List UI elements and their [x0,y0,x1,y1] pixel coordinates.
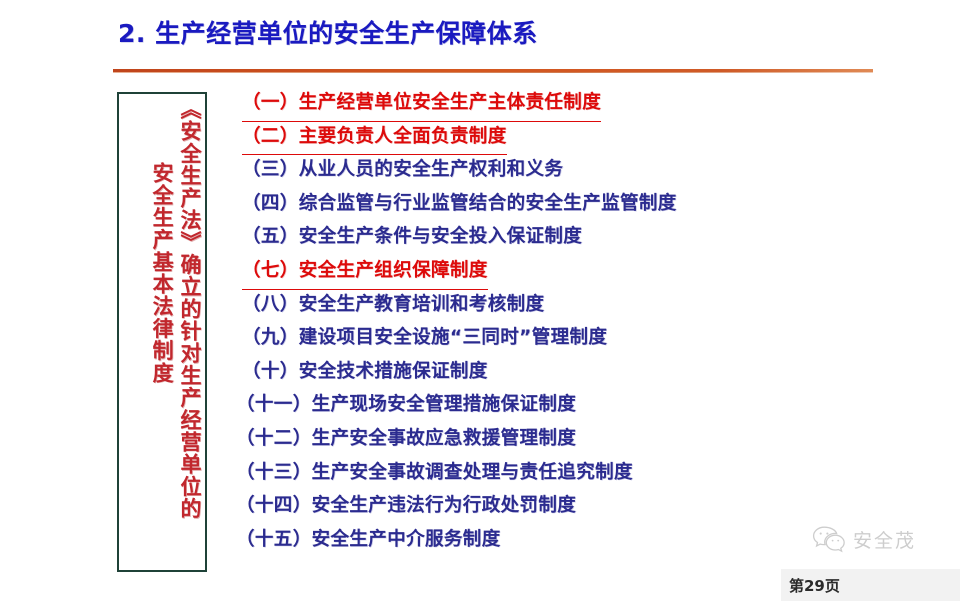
list-item-label: （三）从业人员的安全生产权利和义务 [242,153,563,187]
vertical-text-column-1: 《安全生产法》确立的针对生产经营单位的 [178,98,200,520]
list-item-label: （十三）生产安全事故调查处理与责任追究制度 [236,456,633,490]
list-item: （五）安全生产条件与安全投入保证制度 [236,220,876,254]
page-number-band: 第29页 [781,569,960,601]
list-item-label: （五）安全生产条件与安全投入保证制度 [242,220,582,254]
list-item-label: （十二）生产安全事故应急救援管理制度 [236,422,576,456]
list-item-label: （十五）安全生产中介服务制度 [236,523,501,557]
list-item: （十三）生产安全事故调查处理与责任追究制度 [236,456,876,490]
list-item: （三）从业人员的安全生产权利和义务 [236,153,876,187]
vertical-caption-box: 《安全生产法》确立的针对生产经营单位的 安全生产基本法律制度 [117,92,207,572]
title-divider [113,68,873,74]
list-item: （十一）生产现场安全管理措施保证制度 [236,388,876,422]
list-item: （十五）安全生产中介服务制度 [236,523,876,557]
list-item: （七）安全生产组织保障制度 [236,254,876,288]
list-item: （十二）生产安全事故应急救援管理制度 [236,422,876,456]
watermark-label: 安全茂 [853,526,916,553]
list-item: （八）安全生产教育培训和考核制度 [236,288,876,322]
list-item-label: （七）安全生产组织保障制度 [242,254,488,290]
slide-canvas: 2. 生产经营单位的安全生产保障体系 《安全生产法》确立的针对生产经营单位的 安… [0,0,960,601]
list-item: （四）综合监管与行业监管结合的安全生产监管制度 [236,187,876,221]
list-item-label: （一）生产经营单位安全生产主体责任制度 [242,86,601,122]
vertical-text-columns: 《安全生产法》确立的针对生产经营单位的 安全生产基本法律制度 [119,94,205,570]
list-item-label: （十一）生产现场安全管理措施保证制度 [236,388,576,422]
watermark: 安全茂 [812,525,916,553]
list-item: （十）安全技术措施保证制度 [236,355,876,389]
systems-list: （一）生产经营单位安全生产主体责任制度 （二）主要负责人全面负责制度 （三）从业… [236,86,876,556]
list-item-label: （十）安全技术措施保证制度 [242,355,488,389]
list-item-label: （四）综合监管与行业监管结合的安全生产监管制度 [242,187,677,221]
list-item: （十四）安全生产违法行为行政处罚制度 [236,489,876,523]
list-item: （二）主要负责人全面负责制度 [236,120,876,154]
wechat-icon [812,525,846,553]
divider-thin-line [113,72,873,73]
page-number: 第29页 [789,575,840,596]
list-item: （一）生产经营单位安全生产主体责任制度 [236,86,876,120]
list-item-label: （十四）安全生产违法行为行政处罚制度 [236,489,576,523]
list-item-label: （八）安全生产教育培训和考核制度 [242,288,544,322]
vertical-text-column-2: 安全生产基本法律制度 [150,98,172,384]
list-item-label: （九）建设项目安全设施“三同时”管理制度 [242,321,607,355]
page-title: 2. 生产经营单位的安全生产保障体系 [118,14,538,50]
list-item-label: （二）主要负责人全面负责制度 [242,120,507,156]
list-item: （九）建设项目安全设施“三同时”管理制度 [236,321,876,355]
